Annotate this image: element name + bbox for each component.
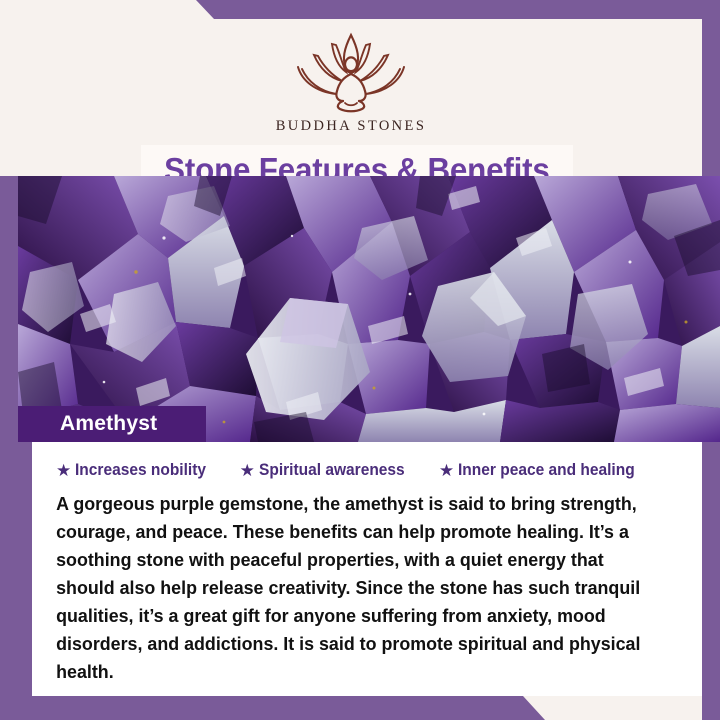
lotus-meditation-icon <box>276 25 426 117</box>
benefit-label-2: Spiritual awareness <box>259 461 405 480</box>
stone-name-label: Amethyst <box>18 412 157 436</box>
content-card: ★ Increases nobility ★ Spiritual awarene… <box>32 442 702 696</box>
benefit-item-2: ★ Spiritual awareness <box>240 461 414 480</box>
stone-features-poster: BUDDHA STONES Stone Features & Benefits <box>0 0 720 720</box>
top-decorative-bar <box>0 0 720 19</box>
benefits-list: ★ Increases nobility ★ Spiritual awarene… <box>32 442 702 480</box>
star-icon: ★ <box>439 462 454 479</box>
amethyst-crystal-cluster-graphic <box>18 176 720 442</box>
amethyst-hero-image <box>18 176 720 442</box>
brand-name: BUDDHA STONES <box>0 118 702 135</box>
benefit-item-1: ★ Increases nobility <box>56 461 215 480</box>
stone-name-banner: Amethyst <box>18 406 206 442</box>
poster-header: BUDDHA STONES Stone Features & Benefits <box>0 19 702 176</box>
benefit-item-3: ★ Inner peace and healing <box>439 461 646 480</box>
star-icon: ★ <box>56 462 71 479</box>
stone-description: A gorgeous purple gemstone, the amethyst… <box>32 480 679 686</box>
star-icon: ★ <box>240 462 255 479</box>
brand-logo: BUDDHA STONES <box>0 25 702 135</box>
benefit-label-1: Increases nobility <box>75 461 206 480</box>
bottom-decorative-bar <box>0 696 720 720</box>
benefit-label-3: Inner peace and healing <box>458 461 635 480</box>
